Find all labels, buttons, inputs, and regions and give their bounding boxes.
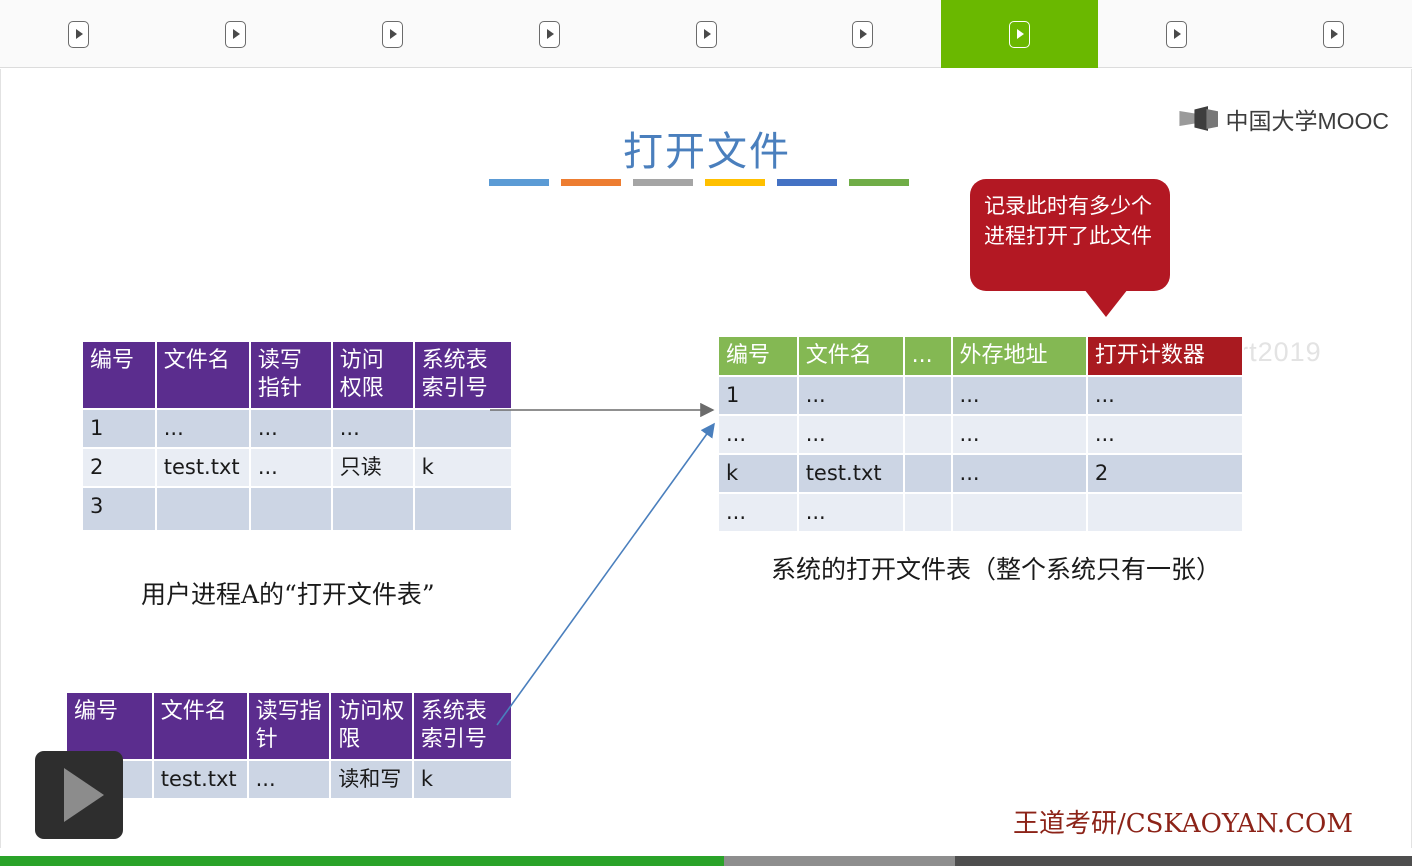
table-header-row: 编号 文件名 读写指针 访问权限 系统表索引号 [66, 692, 512, 760]
cell-open-counter: ... [1087, 376, 1243, 415]
col-header-open-counter: 打开计数器 [1087, 336, 1243, 376]
col-header-sysindex: 系统表索引号 [413, 692, 512, 760]
cell-sysindex [414, 487, 512, 531]
segment-7-active[interactable] [941, 0, 1098, 68]
mooc-logo-text: 中国大学MOOC [1225, 102, 1389, 136]
video-progress-bar[interactable] [0, 856, 1412, 866]
table-row: 1 ... ... ... [82, 409, 512, 448]
cell-filename: test.txt [153, 760, 248, 799]
slide-stage: 打开文件 中国大学MOOC 记录此时有多少个进程打开了此文件 blueheart… [0, 69, 1412, 848]
cell-rwpointer [250, 487, 332, 531]
cell-id: k [718, 454, 798, 493]
col-header-disk-addr: 外存地址 [952, 336, 1087, 376]
cell-sysindex: k [413, 760, 512, 799]
chapter-segment-bar [0, 0, 1412, 68]
table-system-open-file: 编号 文件名 ... 外存地址 打开计数器 1 ... ... ... ... … [717, 335, 1244, 533]
progress-played [0, 856, 724, 866]
play-icon [539, 21, 560, 48]
table-row-k: k test.txt ... 2 [718, 454, 1243, 493]
segment-4[interactable] [471, 0, 628, 68]
table-row: 2 test.txt ... 只读 k [82, 448, 512, 487]
cell-open-counter: 2 [1087, 454, 1243, 493]
cell-rwpointer: ... [248, 760, 331, 799]
table-row: 1 ... ... ... [718, 376, 1243, 415]
segment-2[interactable] [157, 0, 314, 68]
table-header-row: 编号 文件名 读写指针 访问权限 系统表索引号 [82, 341, 512, 409]
col-header-id: 编号 [718, 336, 798, 376]
caption-table-system: 系统的打开文件表（整个系统只有一张） [771, 550, 1221, 586]
cell-access: 只读 [332, 448, 414, 487]
cell-ellipsis [904, 415, 952, 454]
cell-sysindex: k [414, 448, 512, 487]
cell-rwpointer: ... [250, 409, 332, 448]
segment-8[interactable] [1098, 0, 1255, 68]
title-bar-5 [777, 179, 837, 186]
cell-rwpointer: ... [250, 448, 332, 487]
play-icon [382, 21, 403, 48]
cell-id: 2 [82, 448, 156, 487]
title-bar-1 [489, 179, 549, 186]
col-header-access: 访问权限 [332, 341, 414, 409]
cell-id: ... [718, 493, 798, 532]
cell-filename: test.txt [798, 454, 904, 493]
table-header-row: 编号 文件名 ... 外存地址 打开计数器 [718, 336, 1243, 376]
cell-access: ... [332, 409, 414, 448]
segment-9[interactable] [1255, 0, 1412, 68]
col-header-sysindex: 系统表索引号 [414, 341, 512, 409]
play-icon [1166, 21, 1187, 48]
mooc-ribbon-icon [1179, 104, 1219, 134]
play-icon [225, 21, 246, 48]
cell-open-counter: ... [1087, 415, 1243, 454]
play-icon [1009, 21, 1030, 48]
cell-filename: ... [798, 415, 904, 454]
col-header-access: 访问权限 [330, 692, 413, 760]
title-underline-bars [489, 179, 909, 186]
table-row: ... ... ... ... [718, 415, 1243, 454]
callout-bubble: 记录此时有多少个进程打开了此文件 [970, 179, 1170, 291]
title-bar-4 [705, 179, 765, 186]
table-row: 3 [82, 487, 512, 531]
cell-id: ... [718, 415, 798, 454]
brand-watermark: 王道考研/CSKAOYAN.COM [1013, 803, 1353, 840]
play-icon [64, 768, 104, 822]
segment-6[interactable] [784, 0, 941, 68]
segment-1[interactable] [0, 0, 157, 68]
play-icon [68, 21, 89, 48]
col-header-rwpointer: 读写指针 [248, 692, 331, 760]
video-play-button[interactable] [35, 751, 123, 839]
segment-3[interactable] [314, 0, 471, 68]
cell-id: 3 [82, 487, 156, 531]
cell-open-counter [1087, 493, 1243, 532]
play-icon [1323, 21, 1344, 48]
col-header-id: 编号 [82, 341, 156, 409]
col-header-filename: 文件名 [156, 341, 250, 409]
cell-filename: ... [156, 409, 250, 448]
cell-filename: ... [798, 376, 904, 415]
title-bar-2 [561, 179, 621, 186]
table-row: 1 test.txt ... 读和写 k [66, 760, 512, 799]
cell-filename: ... [798, 493, 904, 532]
cell-disk-addr: ... [952, 454, 1087, 493]
mooc-logo: 中国大学MOOC [1179, 102, 1389, 136]
caption-table-a: 用户进程A的“打开文件表” [141, 575, 435, 611]
cell-access [332, 487, 414, 531]
cell-id: 1 [718, 376, 798, 415]
cell-disk-addr: ... [952, 376, 1087, 415]
table-process-a: 编号 文件名 读写指针 访问权限 系统表索引号 1 ... ... ... 2 … [81, 340, 513, 532]
title-bar-3 [633, 179, 693, 186]
cell-filename [156, 487, 250, 531]
play-icon [696, 21, 717, 48]
cell-disk-addr [952, 493, 1087, 532]
cell-sysindex [414, 409, 512, 448]
col-header-filename: 文件名 [798, 336, 904, 376]
cell-disk-addr: ... [952, 415, 1087, 454]
cell-filename: test.txt [156, 448, 250, 487]
cell-ellipsis [904, 454, 952, 493]
col-header-ellipsis: ... [904, 336, 952, 376]
col-header-rwpointer: 读写指针 [250, 341, 332, 409]
title-bar-6 [849, 179, 909, 186]
col-header-filename: 文件名 [153, 692, 248, 760]
cell-ellipsis [904, 493, 952, 532]
cell-access: 读和写 [330, 760, 413, 799]
table-process-b: 编号 文件名 读写指针 访问权限 系统表索引号 1 test.txt ... 读… [65, 691, 513, 800]
arrow-b-to-system [497, 424, 714, 725]
callout-tail [1084, 289, 1128, 317]
play-icon [852, 21, 873, 48]
cell-id: 1 [82, 409, 156, 448]
cell-ellipsis [904, 376, 952, 415]
segment-5[interactable] [628, 0, 785, 68]
table-row: ... ... [718, 493, 1243, 532]
col-header-id: 编号 [66, 692, 153, 760]
